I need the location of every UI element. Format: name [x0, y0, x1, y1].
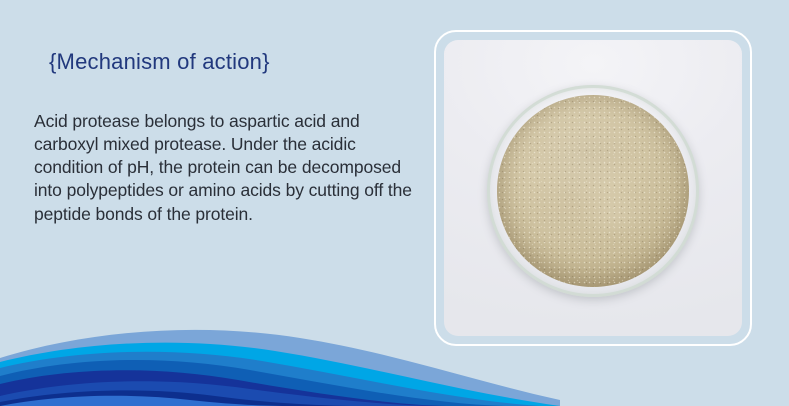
- product-photo: [444, 40, 742, 336]
- powder-grain-texture: [497, 95, 689, 287]
- wave-layer-mid-blue: [0, 352, 540, 406]
- wave-layer-darkest: [0, 390, 360, 406]
- wave-layer-foreground: [0, 396, 290, 406]
- page-title: {Mechanism of action}: [34, 48, 412, 76]
- slide-canvas: {Mechanism of action} Acid protease belo…: [0, 0, 789, 406]
- enzyme-powder: [497, 95, 689, 287]
- petri-dish-icon: [487, 85, 699, 297]
- body-paragraph: Acid protease belongs to aspartic acid a…: [34, 110, 412, 226]
- wave-layer-royal: [0, 381, 440, 406]
- product-image-card: 高 酶活: [434, 30, 752, 346]
- text-column: {Mechanism of action} Acid protease belo…: [34, 48, 412, 226]
- wave-layer-deep-blue: [0, 360, 505, 406]
- wave-layer-cyan: [0, 343, 560, 406]
- wave-layer-navy-stripe: [0, 370, 455, 406]
